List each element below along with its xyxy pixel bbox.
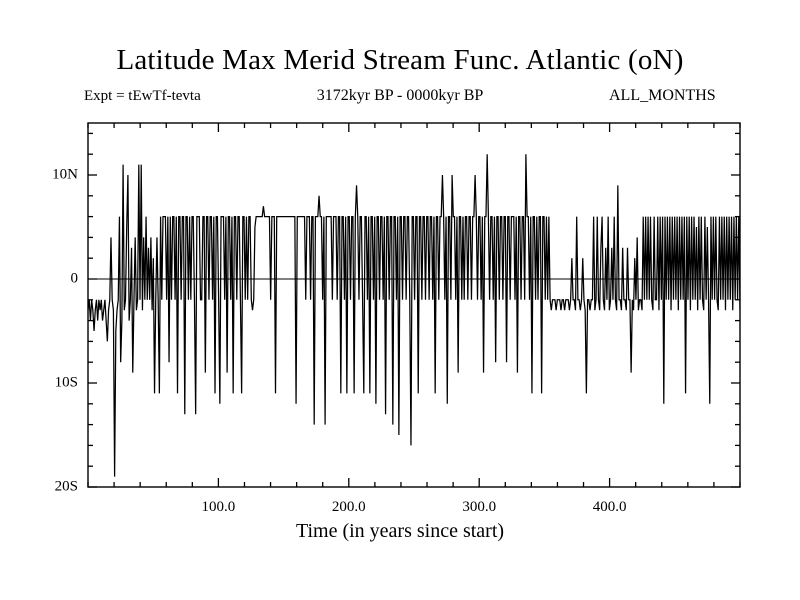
y-tick-label: 0 bbox=[20, 271, 78, 288]
plot-area bbox=[0, 0, 800, 600]
x-tick-label: 200.0 bbox=[332, 499, 366, 516]
y-tick-label: 20S bbox=[20, 479, 78, 496]
y-tick-label: 10N bbox=[20, 167, 78, 184]
chart-figure: Latitude Max Merid Stream Func. Atlantic… bbox=[0, 0, 800, 600]
x-tick-label: 400.0 bbox=[593, 499, 627, 516]
y-tick-label: 10S bbox=[20, 375, 78, 392]
x-axis-title: Time (in years since start) bbox=[0, 521, 800, 541]
data-series-line bbox=[88, 154, 740, 476]
x-tick-label: 100.0 bbox=[202, 499, 236, 516]
x-tick-label: 300.0 bbox=[462, 499, 496, 516]
